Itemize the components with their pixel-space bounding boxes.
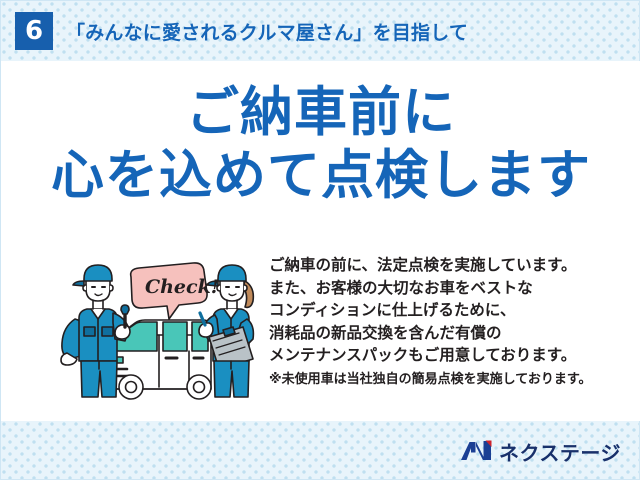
content-panel: ご納車前に 心を込めて点検します (1, 61, 640, 421)
page-title: ご納車前に 心を込めて点検します (1, 83, 640, 206)
copy-line: ご納車の前に、法定点検を実施しています。 (269, 254, 631, 277)
footer-band: ネクステージ (1, 421, 640, 481)
brand-logo: ネクステージ (460, 437, 621, 466)
mechanics-illustration: Check! (53, 257, 269, 405)
copy-line: また、お客様の大切なお車をベストな (269, 277, 631, 300)
header-title: 「みんなに愛されるクルマ屋さん」を目指して (66, 18, 468, 45)
headline-line-2: 心を込めて点検します (1, 146, 640, 205)
copy-line: コンディションに仕上げるために、 (269, 299, 631, 322)
headline-line-1: ご納車前に (1, 83, 640, 142)
section-number-badge: 6 (15, 12, 53, 50)
speech-bubble-text: Check! (145, 276, 219, 298)
copy-line: 消耗品の新品交換を含んだ有償の (269, 322, 631, 345)
n-mark-icon (460, 439, 492, 463)
body-copy: ご納車の前に、法定点検を実施しています。 また、お客様の大切なお車をベストな コ… (269, 254, 631, 390)
promo-card: 6 「みんなに愛されるクルマ屋さん」を目指して ご納車前に 心を込めて点検します (0, 0, 640, 480)
copy-footnote: ※未使用車は当社独自の簡易点検を実施しております。 (269, 370, 631, 390)
copy-line: メンテナンスパックもご用意しております。 (269, 344, 631, 367)
brand-name: ネクステージ (499, 437, 621, 466)
header-band: 6 「みんなに愛されるクルマ屋さん」を目指して (1, 1, 640, 61)
